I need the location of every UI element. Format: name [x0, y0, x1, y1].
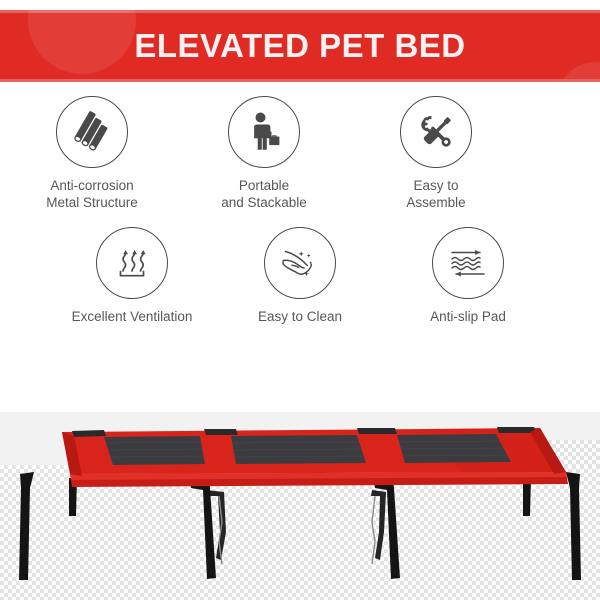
banner-bottom-edge	[0, 79, 600, 82]
air-flow-arrows-icon	[109, 240, 155, 286]
feature-icon-circle	[96, 227, 168, 299]
product-photo	[0, 392, 600, 600]
bed-leg-braces	[219, 496, 375, 564]
feature-icon-circle	[432, 227, 504, 299]
feature-label: Anti-slip Pad	[430, 308, 506, 325]
feature-ventilation: Excellent Ventilation	[48, 227, 216, 325]
feature-portable: Portable and Stackable	[178, 96, 350, 211]
feature-icon-circle	[56, 96, 128, 168]
feature-icon-circle	[264, 227, 336, 299]
elevated-pet-bed-illustration	[0, 392, 600, 600]
feature-row-1: Anti-corrosion Metal Structure Porta	[0, 96, 600, 211]
bed-legs	[19, 472, 581, 580]
feature-anti-corrosion: Anti-corrosion Metal Structure	[6, 96, 178, 211]
feature-label: Easy to Assemble	[406, 177, 465, 211]
screwdriver-wrench-icon	[412, 108, 460, 156]
header-banner: ELEVATED PET BED	[0, 10, 600, 82]
feature-label: Anti-corrosion Metal Structure	[46, 177, 138, 211]
feature-row-2: Excellent Ventilation	[0, 227, 600, 325]
feature-easy-assemble: Easy to Assemble	[350, 96, 522, 211]
feature-grid: Anti-corrosion Metal Structure Porta	[0, 96, 600, 325]
metal-tubes-icon	[67, 107, 117, 157]
product-infographic: ELEVATED PET BED	[0, 0, 600, 600]
feature-label: Excellent Ventilation	[72, 308, 193, 325]
feature-label: Easy to Clean	[258, 308, 342, 325]
feature-label: Portable and Stackable	[221, 177, 307, 211]
person-with-briefcase-icon	[241, 109, 287, 155]
wiping-hand-sparkle-icon	[276, 239, 324, 287]
feature-anti-slip: Anti-slip Pad	[384, 227, 552, 325]
feature-icon-circle	[228, 96, 300, 168]
feature-icon-circle	[400, 96, 472, 168]
feature-easy-clean: Easy to Clean	[216, 227, 384, 325]
page-title: ELEVATED PET BED	[0, 10, 600, 82]
wavy-lines-arrows-icon	[444, 239, 492, 287]
